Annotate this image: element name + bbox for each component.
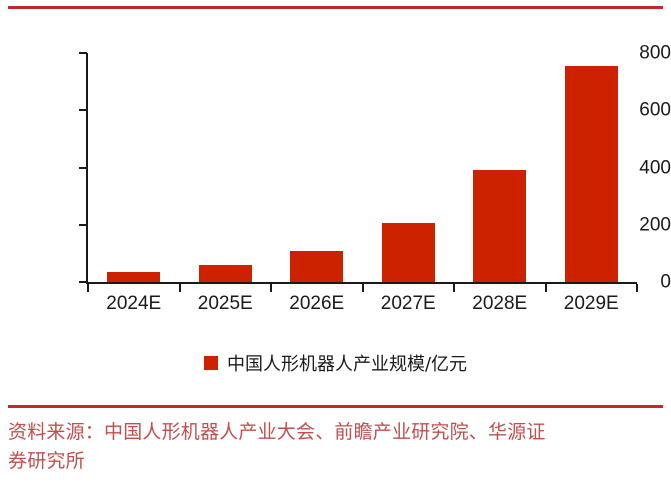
legend-item-label: 中国人形机器人产业规模/亿元 xyxy=(227,350,467,376)
bar xyxy=(473,170,526,282)
chart-figure: 0200400600800 2024E2025E2026E2027E2028E2… xyxy=(0,0,671,484)
bar xyxy=(382,223,435,282)
x-tick-mark xyxy=(270,284,272,292)
top-divider-rule xyxy=(8,6,663,9)
x-tick-label: 2025E xyxy=(180,294,272,313)
y-tick-mark xyxy=(79,109,87,111)
x-tick-label: 2028E xyxy=(454,294,546,313)
x-tick-label: 2029E xyxy=(546,294,638,313)
bar xyxy=(107,272,160,282)
source-line-2: 券研究所 xyxy=(8,447,668,476)
bar xyxy=(199,265,252,282)
x-tick-mark xyxy=(636,284,638,292)
source-line-1: 资料来源：中国人形机器人产业大会、前瞻产业研究院、华源证 xyxy=(8,418,668,447)
y-tick-mark xyxy=(79,167,87,169)
x-tick-mark xyxy=(545,284,547,292)
y-tick-mark xyxy=(79,281,87,283)
x-tick-mark xyxy=(362,284,364,292)
x-tick-mark xyxy=(87,284,89,292)
y-tick-mark xyxy=(79,52,87,54)
x-tick-label: 2026E xyxy=(271,294,363,313)
x-tick-label: 2027E xyxy=(363,294,455,313)
source-divider-rule xyxy=(8,405,663,408)
bar xyxy=(565,66,618,282)
source-note: 资料来源：中国人形机器人产业大会、前瞻产业研究院、华源证 券研究所 xyxy=(8,418,668,477)
bar-series-china-humanoid-robot-industry-scale xyxy=(88,53,637,282)
legend-swatch-icon xyxy=(204,356,218,370)
x-tick-label: 2024E xyxy=(88,294,180,313)
chart-legend: 中国人形机器人产业规模/亿元 xyxy=(0,350,671,376)
x-tick-mark xyxy=(179,284,181,292)
plot-area: 0200400600800 2024E2025E2026E2027E2028E2… xyxy=(0,20,671,330)
x-tick-mark xyxy=(453,284,455,292)
bar xyxy=(290,251,343,282)
y-tick-mark xyxy=(79,224,87,226)
